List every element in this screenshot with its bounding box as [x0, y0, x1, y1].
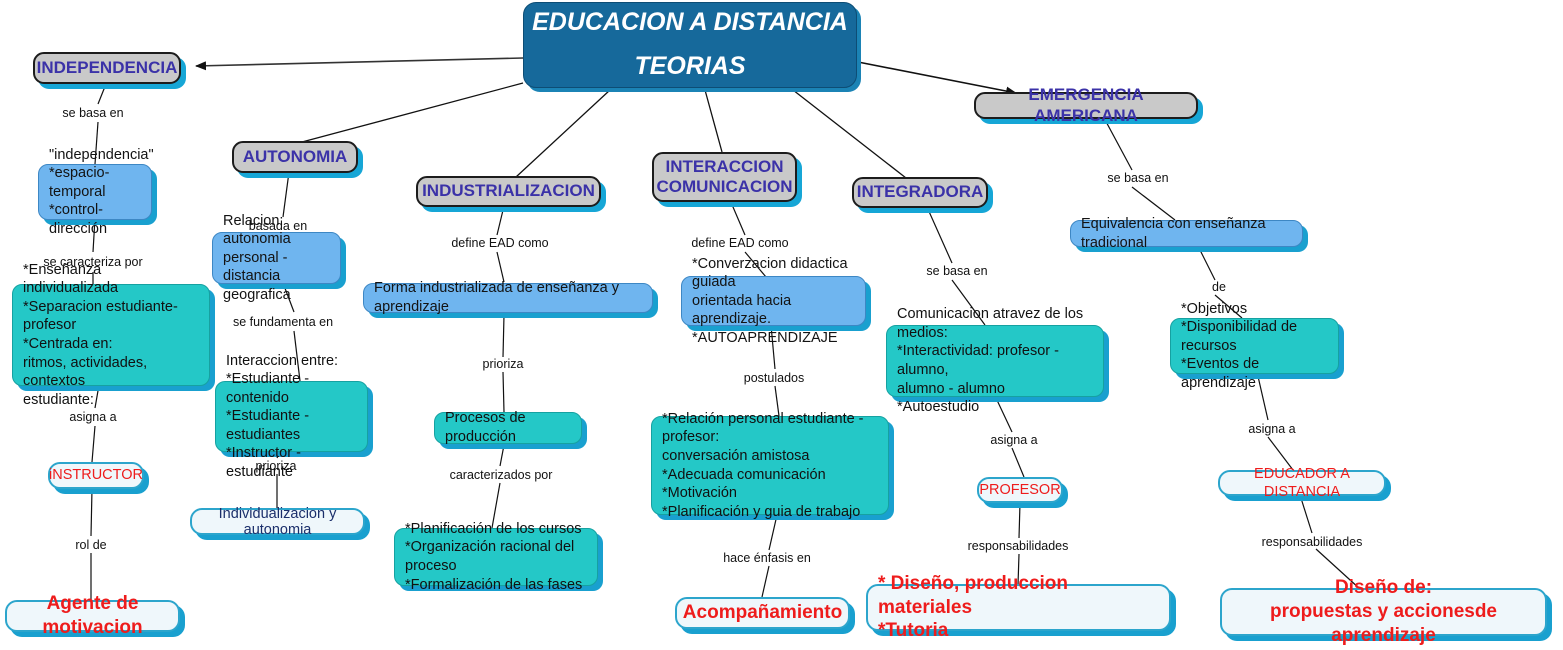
- content-node-procesos-de-produccion[interactable]: Procesos de producción: [434, 412, 582, 444]
- edge-label-autonomia-2: se fundamenta en: [233, 316, 333, 329]
- role-node-instructor[interactable]: iNSTRUCTOR: [48, 462, 144, 489]
- edge-label-independencia-2: se caracteriza por: [43, 256, 142, 269]
- theory-node-independencia[interactable]: INDEPENDENCIA: [33, 52, 181, 84]
- edge-label-interaccion-1: define EAD como: [691, 237, 788, 250]
- edge-label-emergencia-2: de: [1212, 281, 1226, 294]
- edge-label-integradora-2: asigna a: [990, 434, 1037, 447]
- content-node-industrializacion-forma[interactable]: Forma industrializada de enseñanza y apr…: [363, 283, 653, 313]
- theory-node-industrializacion[interactable]: INDUSTRIALIZACION: [416, 176, 601, 207]
- content-node-interaccion-postulados[interactable]: *Relación personal estudiante - profesor…: [651, 416, 889, 515]
- edge-root-to-interaccion: [705, 90, 722, 152]
- edge-interaccion-3b: [762, 566, 769, 597]
- edge-label-interaccion-2: postulados: [744, 372, 804, 385]
- edge-independencia-3b: [92, 426, 95, 462]
- content-node-emergencia-elementos[interactable]: *Objetivos *Disponibilidad de recursos *…: [1170, 318, 1339, 374]
- role-node-educador-a-distancia[interactable]: EDUCADOR A DISTANCIA: [1218, 470, 1386, 496]
- role-node-profesor[interactable]: PROFESOR: [977, 477, 1063, 503]
- edge-label-emergencia-3: asigna a: [1248, 423, 1295, 436]
- edge-industrializacion-1b: [497, 252, 504, 282]
- edge-label-industrializacion-1: define EAD como: [451, 237, 548, 250]
- theory-node-integradora[interactable]: INTEGRADORA: [852, 177, 988, 208]
- edge-root-to-integradora: [793, 90, 906, 178]
- content-node-autonomia-interaccion[interactable]: Interaccion entre: *Estudiante - conteni…: [215, 381, 368, 452]
- edge-industrializacion-2b: [503, 372, 504, 412]
- theory-node-emergencia-americana[interactable]: EMERGENCIA AMERICANA: [974, 92, 1198, 119]
- edge-label-integradora-3: responsabilidades: [968, 540, 1069, 553]
- edge-label-independencia-1: se basa en: [62, 107, 123, 120]
- edge-label-independencia-3: asigna a: [69, 411, 116, 424]
- outcome-node-diseno-de-propuestas[interactable]: Diseño de: propuestas y accionesde apren…: [1220, 588, 1547, 636]
- edge-label-interaccion-3: hace énfasis en: [723, 552, 811, 565]
- edge-independencia-1a: [98, 84, 106, 104]
- content-node-interaccion-conversacion[interactable]: *Converzacion didactica guiada orientada…: [681, 276, 866, 326]
- outcome-node-individualizacion-y-autonomia[interactable]: Individualizacion y autonomia: [190, 508, 365, 535]
- edge-integradora-2b: [1012, 448, 1024, 477]
- edge-label-emergencia-1: se basa en: [1107, 172, 1168, 185]
- outcome-node-diseno-produccion-materiales[interactable]: * Diseño, produccion materiales *Tutoria: [866, 584, 1171, 631]
- edge-root-to-industrializacion: [516, 90, 610, 177]
- edge-autonomia-1a: [283, 172, 289, 217]
- edge-label-integradora-1: se basa en: [926, 265, 987, 278]
- edge-integradora-1a: [927, 207, 952, 263]
- edge-integradora-3a: [1019, 503, 1020, 538]
- root-node-educacion-a-distancia[interactable]: EDUCACION A DISTANCIA TEORIAS: [523, 2, 857, 88]
- edge-industrializacion-3a: [500, 445, 504, 466]
- edge-root-to-autonomia: [302, 83, 523, 142]
- outcome-node-agente-de-motivacion[interactable]: Agente de motivacion: [5, 600, 180, 632]
- edge-independencia-4a: [91, 489, 92, 536]
- edge-label-autonomia-3: prioriza: [256, 460, 297, 473]
- theory-node-autonomia[interactable]: AUTONOMIA: [232, 141, 358, 173]
- edge-industrializacion-1a: [497, 206, 504, 235]
- content-node-industrializacion-caracteristicas[interactable]: *Planificación de los cursos *Organizaci…: [394, 528, 598, 586]
- edge-label-industrializacion-2: prioriza: [483, 358, 524, 371]
- content-node-autonomia-relacion[interactable]: Relacion: autonomia personal - distancia…: [212, 232, 341, 284]
- edge-industrializacion-2a: [503, 315, 504, 357]
- content-node-equivalencia-ensenanza-tradicional[interactable]: Equivalencia con enseñanza tradicional: [1070, 220, 1303, 247]
- edge-interaccion-1a: [730, 200, 745, 235]
- outcome-node-acompanamiento[interactable]: Acompañamiento: [675, 597, 850, 629]
- edge-label-autonomia-1: basada en: [249, 220, 307, 233]
- content-node-independencia-caracteristicas[interactable]: *Enseñanza individualizada *Separacion e…: [12, 284, 210, 386]
- edge-label-industrializacion-3: caracterizados por: [450, 469, 553, 482]
- content-node-integradora-comunicacion[interactable]: Comunicacion atravez de los medios: *Int…: [886, 325, 1104, 397]
- content-node-independencia-definicion[interactable]: "independencia" *espacio-temporal *contr…: [38, 164, 152, 220]
- concept-map-canvas: EDUCACION A DISTANCIA TEORIAS INDEPENDEN…: [0, 0, 1563, 650]
- theory-node-interaccion-comunicacion[interactable]: INTERACCION COMUNICACION: [652, 152, 797, 202]
- edge-emergencia-2a: [1200, 250, 1215, 280]
- edge-label-independencia-4: rol de: [75, 539, 106, 552]
- edge-root-to-independencia: [196, 58, 523, 66]
- edge-label-emergencia-4: responsabilidades: [1262, 536, 1363, 549]
